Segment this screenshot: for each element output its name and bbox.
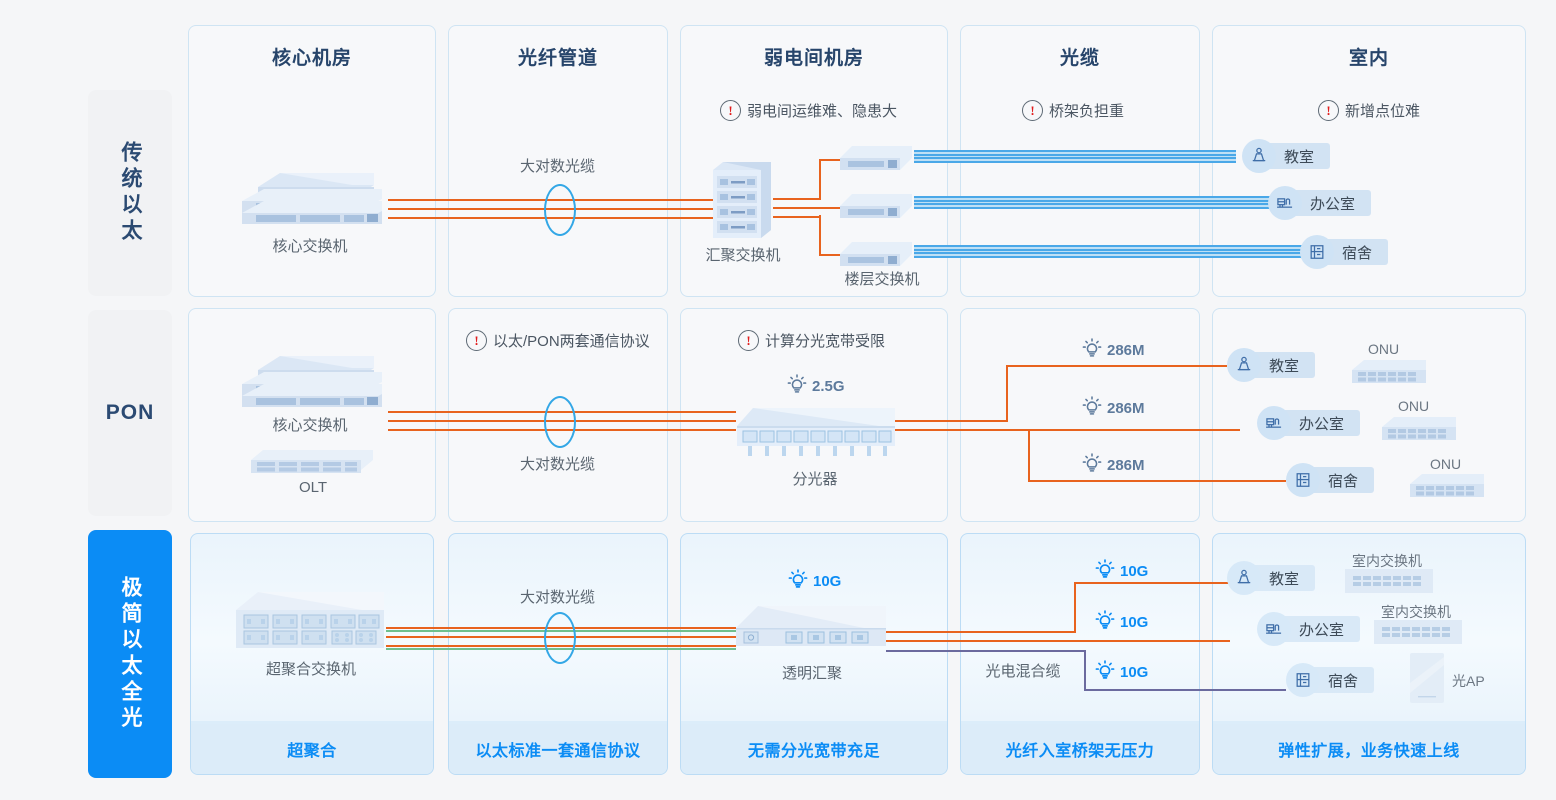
branch-line [773,216,821,218]
splitter-caption: 分光器 [755,468,875,489]
bandwidth-badge-dormitory: 10G [1094,659,1148,686]
indoor-switch-icon [1374,620,1462,644]
warning-icon: ! [738,330,759,351]
hybrid-branch-riser [1084,650,1086,690]
onu-icon [1382,415,1458,443]
warning-icon: ! [466,330,487,351]
room-chip-office: 办公室 [1268,186,1371,220]
classroom-icon [1227,348,1261,382]
row-label-simplified-all-optical: 极简以太全光 [88,530,172,778]
hybrid-cable-caption: 光电混合缆 [968,660,1078,681]
bulb-icon [1094,558,1116,585]
panel-footer-label: 无需分光宽带充足 [681,724,947,774]
panel-footer-label: 超聚合 [191,724,433,774]
panel-footer-label: 光纤入室桥架无压力 [961,724,1199,774]
core-switch-caption: 核心交换机 [215,414,405,435]
dormitory-icon [1286,463,1320,497]
core-switch-icon [234,348,386,410]
branch-line [886,631,1076,633]
onu-label: ONU [1398,398,1429,414]
transparent-aggregation-caption: 透明汇聚 [752,662,872,683]
warning-new-points: ! 新增点位难 [1318,100,1420,121]
panel-simplified-optical-cable: 光纤入室桥架无压力 [960,533,1200,775]
room-chip-office: 办公室 [1257,406,1360,440]
diagram-canvas: 核心机房 光纤管道 弱电间机房 光缆 室内 传统以太 PON 极简以太全光 超聚… [0,0,1556,800]
cable-bundle-marker [544,612,576,664]
office-icon [1268,186,1302,220]
warning-icon: ! [720,100,741,121]
branch-line [895,420,1008,422]
branch-line [1028,480,1286,482]
branch-line [773,207,843,209]
cable-bundle-marker [544,396,576,448]
hybrid-branch-line [886,650,1086,652]
warning-text: 弱电间运维难、隐患大 [747,100,897,121]
room-chip-dormitory: 宿舍 [1300,235,1388,269]
warning-icon: ! [1318,100,1339,121]
bandwidth-badge-splitter: 2.5G [786,373,845,400]
column-header-core-room: 核心机房 [188,25,436,86]
panel-footer-label: 弹性扩展，业务快速上线 [1213,724,1525,774]
panel-simplified-core-room: 超聚合 [190,533,434,775]
onu-icon [1410,472,1486,500]
bandwidth-badge-classroom: 286M [1081,337,1145,364]
room-chip-dormitory: 宿舍 [1286,463,1374,497]
branch-line [1006,365,1227,367]
warning-text: 计算分光宽带受限 [765,330,885,351]
optical-ap-label: 光AP [1452,671,1485,691]
hybrid-branch-line [1084,689,1286,691]
column-header-label: 核心机房 [272,43,352,70]
core-switch-caption: 核心交换机 [215,235,405,256]
room-chip-classroom: 教室 [1242,139,1330,173]
aggregation-switch-icon [713,160,773,238]
warning-cable-tray: ! 桥架负担重 [1022,100,1124,121]
classroom-icon [1227,561,1261,595]
bulb-icon [787,568,809,595]
column-header-indoor: 室内 [1212,25,1526,86]
warning-split-bandwidth: ! 计算分光宽带受限 [738,330,885,351]
bandwidth-value: 286M [1107,457,1145,474]
floor-switch-caption: 楼层交换机 [822,268,942,289]
bandwidth-value: 10G [1120,614,1148,631]
floor-switch-icon [840,240,914,270]
column-header-label: 弱电间机房 [764,43,864,70]
office-icon [1257,406,1291,440]
bandwidth-value: 10G [813,573,841,590]
row-label-pon: PON [88,310,172,516]
row-label-text: 极简以太全光 [115,576,145,732]
bulb-icon [1094,609,1116,636]
bandwidth-badge-dormitory: 286M [1081,452,1145,479]
onu-label: ONU [1368,341,1399,357]
indoor-switch-icon [1345,569,1433,593]
splitter-icon [737,404,897,460]
cable-bundle-marker [544,184,576,236]
bandwidth-value: 286M [1107,342,1145,359]
branch-riser [819,215,821,255]
bandwidth-badge-office: 10G [1094,609,1148,636]
warning-text: 以太/PON两套通信协议 [493,330,650,351]
room-chip-classroom: 教室 [1227,561,1315,595]
room-chip-classroom: 教室 [1227,348,1315,382]
optical-cable-bundle [914,150,1236,163]
warning-text: 新增点位难 [1345,100,1420,121]
floor-switch-icon [840,144,914,174]
bandwidth-value: 286M [1107,400,1145,417]
dormitory-icon [1286,663,1320,697]
column-header-optical-cable: 光缆 [960,25,1200,86]
branch-riser [819,159,821,200]
warning-icon: ! [1022,100,1043,121]
floor-switch-icon [840,192,914,222]
room-chip-dormitory: 宿舍 [1286,663,1374,697]
room-chip-office: 办公室 [1257,612,1360,646]
branch-riser [1006,365,1008,421]
optical-ap-icon [1410,653,1444,703]
super-aggregation-switch-icon [236,588,386,650]
trunk-cable-caption: 大对数光缆 [455,586,660,607]
trunk-cable-caption: 大对数光缆 [455,155,660,176]
warning-text: 桥架负担重 [1049,100,1124,121]
panel-footer-label: 以太标准一套通信协议 [449,724,667,774]
indoor-switch-label: 室内交换机 [1352,551,1422,571]
row-label-text: 传统以太 [115,141,145,245]
trunk-cable-caption: 大对数光缆 [455,453,660,474]
bandwidth-value: 10G [1120,563,1148,580]
bandwidth-value: 10G [1120,664,1148,681]
bulb-icon [1081,395,1103,422]
onu-label: ONU [1430,456,1461,472]
optical-cable-bundle [914,196,1286,209]
row-label-text: PON [106,401,155,425]
branch-line [886,640,1230,642]
bulb-icon [1081,337,1103,364]
column-header-label: 室内 [1349,43,1389,70]
super-aggregation-switch-caption: 超聚合交换机 [216,658,406,679]
bandwidth-badge-classroom: 10G [1094,558,1148,585]
core-switch-icon [234,165,386,227]
dormitory-icon [1300,235,1334,269]
aggregation-switch-caption: 汇聚交换机 [688,244,798,265]
column-header-fiber-duct: 光纤管道 [448,25,668,86]
branch-line [895,429,1240,431]
onu-icon [1352,358,1428,386]
olt-caption: OLT [255,479,371,496]
branch-riser [1074,582,1076,633]
panel-pon-optical-cable [960,308,1200,522]
column-header-label: 光缆 [1060,43,1100,70]
column-header-weak-current-room: 弱电间机房 [680,25,948,86]
bandwidth-value: 2.5G [812,378,845,395]
bandwidth-badge-uplink: 10G [787,568,841,595]
office-icon [1257,612,1291,646]
bulb-icon [1094,659,1116,686]
optical-cable-bundle [914,245,1306,258]
bandwidth-badge-office: 286M [1081,395,1145,422]
row-label-traditional-ethernet: 传统以太 [88,90,172,296]
warning-weak-current-room: ! 弱电间运维难、隐患大 [720,100,897,121]
bulb-icon [786,373,808,400]
bulb-icon [1081,452,1103,479]
branch-riser [1028,429,1030,481]
transparent-aggregation-icon [736,600,888,652]
classroom-icon [1242,139,1276,173]
olt-icon [251,448,375,478]
indoor-switch-label: 室内交换机 [1381,602,1451,622]
column-header-label: 光纤管道 [518,43,598,70]
warning-dual-protocols: ! 以太/PON两套通信协议 [466,330,650,351]
branch-line [773,198,821,200]
